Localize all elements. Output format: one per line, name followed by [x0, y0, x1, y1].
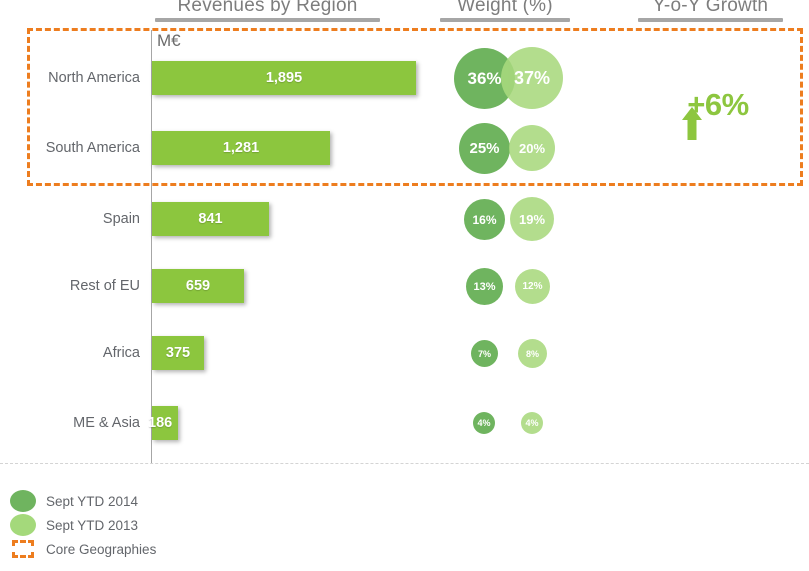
column-header-revenues-label: Revenues by Region	[155, 0, 380, 16]
weight-bubble-2013[interactable]: 4%	[521, 412, 543, 434]
column-header-growth-label: Y-o-Y Growth	[638, 0, 783, 16]
baseline-separator	[0, 463, 809, 464]
revenue-bar[interactable]: 841	[152, 202, 269, 236]
bubble-value-label: 19%	[519, 212, 545, 227]
legend-swatch-2014-icon	[10, 490, 36, 512]
weight-bubble-2013[interactable]: 20%	[509, 125, 555, 171]
chart-row: Africa3757%8%	[0, 325, 809, 381]
legend-swatch-core-geographies-icon	[12, 540, 34, 558]
weight-bubble-pair: 4%4%	[440, 395, 620, 451]
row-label: Spain	[0, 191, 140, 247]
bubble-value-label: 13%	[473, 281, 495, 293]
chart-row: Spain84116%19%	[0, 191, 809, 247]
column-header-rule	[638, 18, 783, 22]
row-label: Africa	[0, 325, 140, 381]
bar-value-label: 659	[186, 278, 210, 294]
column-header-revenues: Revenues by Region	[155, 0, 380, 22]
column-header-rule	[155, 18, 380, 22]
weight-bubble-2013[interactable]: 19%	[510, 197, 554, 241]
bubble-value-label: 37%	[514, 68, 550, 89]
bubble-value-label: 36%	[467, 69, 501, 89]
chart-canvas: Revenues by Region Weight (%) Y-o-Y Grow…	[0, 0, 809, 571]
weight-bubble-2013[interactable]: 12%	[515, 269, 550, 304]
bar-value-label: 186	[148, 415, 172, 431]
chart-row: Rest of EU65913%12%	[0, 258, 809, 314]
weight-bubble-2014[interactable]: 7%	[471, 340, 498, 367]
weight-bubble-2014[interactable]: 16%	[464, 199, 505, 240]
bar-value-label: 841	[198, 211, 222, 227]
bubble-value-label: 7%	[478, 349, 491, 359]
column-header-weight: Weight (%)	[440, 0, 570, 22]
revenue-bar[interactable]: 375	[152, 336, 204, 370]
legend-label: Sept YTD 2014	[46, 494, 138, 509]
legend-swatch-2013-icon	[10, 514, 36, 536]
weight-bubble-pair: 36%37%	[440, 50, 620, 106]
bubble-value-label: 16%	[472, 213, 496, 227]
chart-row: ME & Asia1864%4%	[0, 395, 809, 451]
legend-label: Core Geographies	[46, 542, 156, 557]
column-header-rule	[440, 18, 570, 22]
axis-unit-label: M€	[157, 31, 181, 51]
weight-bubble-2014[interactable]: 25%	[459, 123, 510, 174]
weight-bubble-2014[interactable]: 13%	[466, 268, 503, 305]
bar-value-label: 1,281	[223, 140, 259, 156]
legend-label: Sept YTD 2013	[46, 518, 138, 533]
bar-value-label: 1,895	[266, 70, 302, 86]
weight-bubble-pair: 13%12%	[440, 258, 620, 314]
legend-item: Sept YTD 2014	[10, 489, 310, 513]
bubble-value-label: 8%	[526, 349, 539, 359]
row-label: South America	[0, 120, 140, 176]
chart-legend: Sept YTD 2014 Sept YTD 2013 Core Geograp…	[10, 489, 310, 561]
row-label: Rest of EU	[0, 258, 140, 314]
weight-bubble-2013[interactable]: 8%	[518, 339, 547, 368]
weight-bubble-2014[interactable]: 4%	[473, 412, 495, 434]
revenue-bar[interactable]: 1,281	[152, 131, 330, 165]
yoy-growth-indicator: +6%	[640, 82, 790, 128]
row-label: ME & Asia	[0, 395, 140, 451]
bar-value-label: 375	[166, 345, 190, 361]
bubble-value-label: 4%	[525, 418, 538, 428]
bubble-value-label: 4%	[477, 418, 490, 428]
column-header-growth: Y-o-Y Growth	[638, 0, 783, 22]
weight-bubble-pair: 25%20%	[440, 120, 620, 176]
weight-bubble-2013[interactable]: 37%	[501, 47, 563, 109]
legend-item: Core Geographies	[10, 537, 310, 561]
weight-bubble-pair: 16%19%	[440, 191, 620, 247]
revenue-bar[interactable]: 659	[152, 269, 244, 303]
legend-item: Sept YTD 2013	[10, 513, 310, 537]
revenue-bar[interactable]: 186	[152, 406, 178, 440]
bubble-value-label: 12%	[522, 281, 542, 292]
row-label: North America	[0, 50, 140, 106]
revenue-bar[interactable]: 1,895	[152, 61, 416, 95]
column-header-weight-label: Weight (%)	[440, 0, 570, 16]
bubble-value-label: 20%	[519, 141, 545, 156]
weight-bubble-pair: 7%8%	[440, 325, 620, 381]
bubble-value-label: 25%	[469, 140, 499, 157]
